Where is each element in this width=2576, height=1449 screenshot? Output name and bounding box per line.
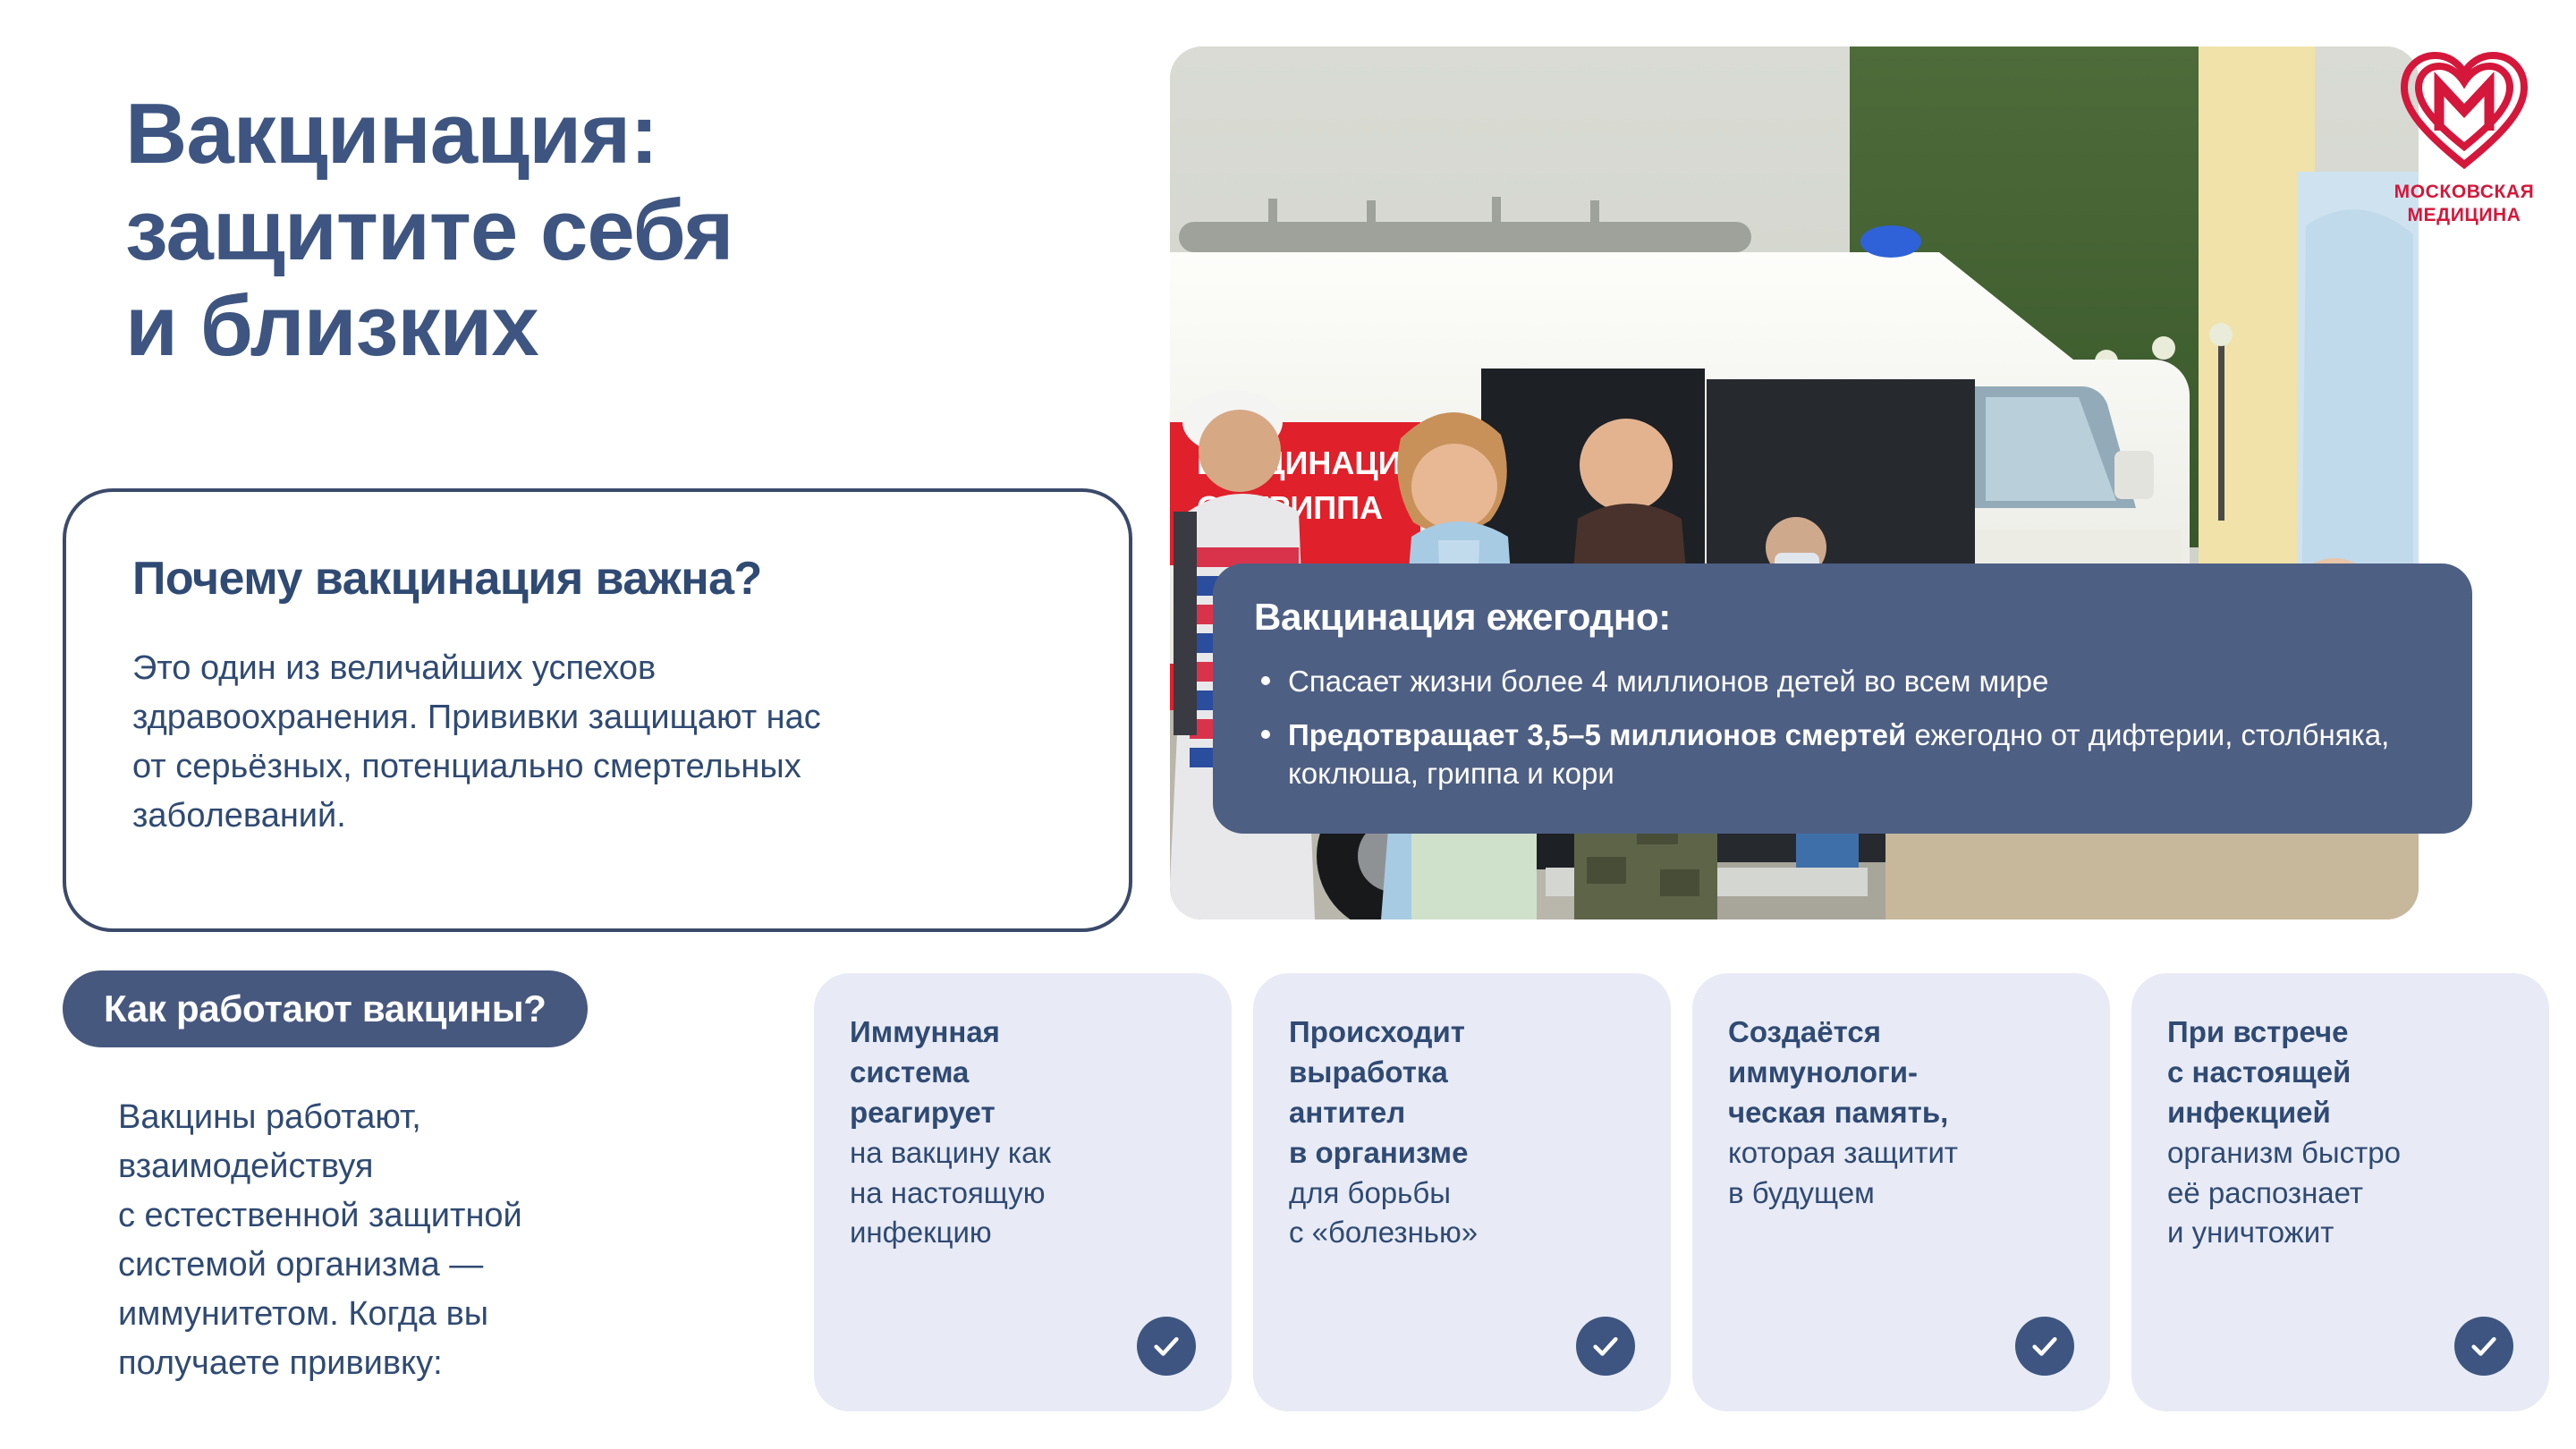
moscow-medicine-logo: МОСКОВСКАЯ МЕДИЦИНА <box>2381 47 2547 226</box>
check-icon <box>2029 1331 2060 1361</box>
overlay-bullet-1: Спасает жизни более 4 миллионов детей во… <box>1288 662 2431 701</box>
overlay-bullet-list: Спасает жизни более 4 миллионов детей во… <box>1254 662 2431 793</box>
bullet-dot-icon <box>1261 676 1270 685</box>
list-item: Предотвращает 3,5–5 миллионов смертей еж… <box>1254 716 2431 793</box>
bullet-dot-icon <box>1261 730 1270 739</box>
check-badge <box>2015 1317 2074 1376</box>
overlay-heading: Вакцинация ежегодно: <box>1254 596 2431 639</box>
step-card-1: Иммунная система реагирует на вакцину ка… <box>814 973 1232 1411</box>
why-body-text: Это один из величайших успехов здравоохр… <box>132 644 1063 841</box>
annual-vaccination-overlay: Вакцинация ежегодно: Спасает жизни более… <box>1213 563 2472 834</box>
how-body-text: Вакцины работают, взаимодействуя с естес… <box>118 1093 708 1389</box>
overlay-bullet-2: Предотвращает 3,5–5 миллионов смертей еж… <box>1288 716 2431 793</box>
step-card-3: Создаётся иммунологи- ческая память, кот… <box>1692 973 2110 1411</box>
check-badge <box>1137 1317 1196 1376</box>
page-title: Вакцинация: защитите себя и близких <box>125 86 1127 375</box>
check-badge <box>1576 1317 1635 1376</box>
check-badge <box>2454 1317 2513 1376</box>
why-heading: Почему вакцинация важна? <box>132 553 1063 606</box>
step-card-4: При встрече с настоящей инфекцией органи… <box>2131 973 2549 1411</box>
step-card-1-text: Иммунная система реагирует на вакцину ка… <box>850 1013 1196 1253</box>
check-icon <box>1590 1331 1621 1361</box>
step-card-3-text: Создаётся иммунологи- ческая память, кот… <box>1728 1013 2074 1213</box>
step-card-2-text: Происходит выработка антител в организме… <box>1289 1013 1635 1253</box>
logo-wordmark: МОСКОВСКАЯ МЕДИЦИНА <box>2381 181 2547 226</box>
how-vaccines-work-pill: Как работают вакцины? <box>63 970 588 1047</box>
heart-m-logo-icon <box>2397 47 2531 172</box>
why-vaccination-card: Почему вакцинация важна? Это один из вел… <box>63 488 1132 932</box>
how-it-works-cards: Иммунная система реагирует на вакцину ка… <box>814 973 2549 1411</box>
poster-root: Вакцинация: защитите себя и близких Поче… <box>0 0 2576 1449</box>
list-item: Спасает жизни более 4 миллионов детей во… <box>1254 662 2431 701</box>
step-card-2: Происходит выработка антител в организме… <box>1253 973 1671 1411</box>
check-icon <box>2469 1331 2499 1361</box>
check-icon <box>1151 1331 1182 1361</box>
step-card-4-text: При встрече с настоящей инфекцией органи… <box>2167 1013 2513 1253</box>
pill-label: Как работают вакцины? <box>104 987 547 1030</box>
